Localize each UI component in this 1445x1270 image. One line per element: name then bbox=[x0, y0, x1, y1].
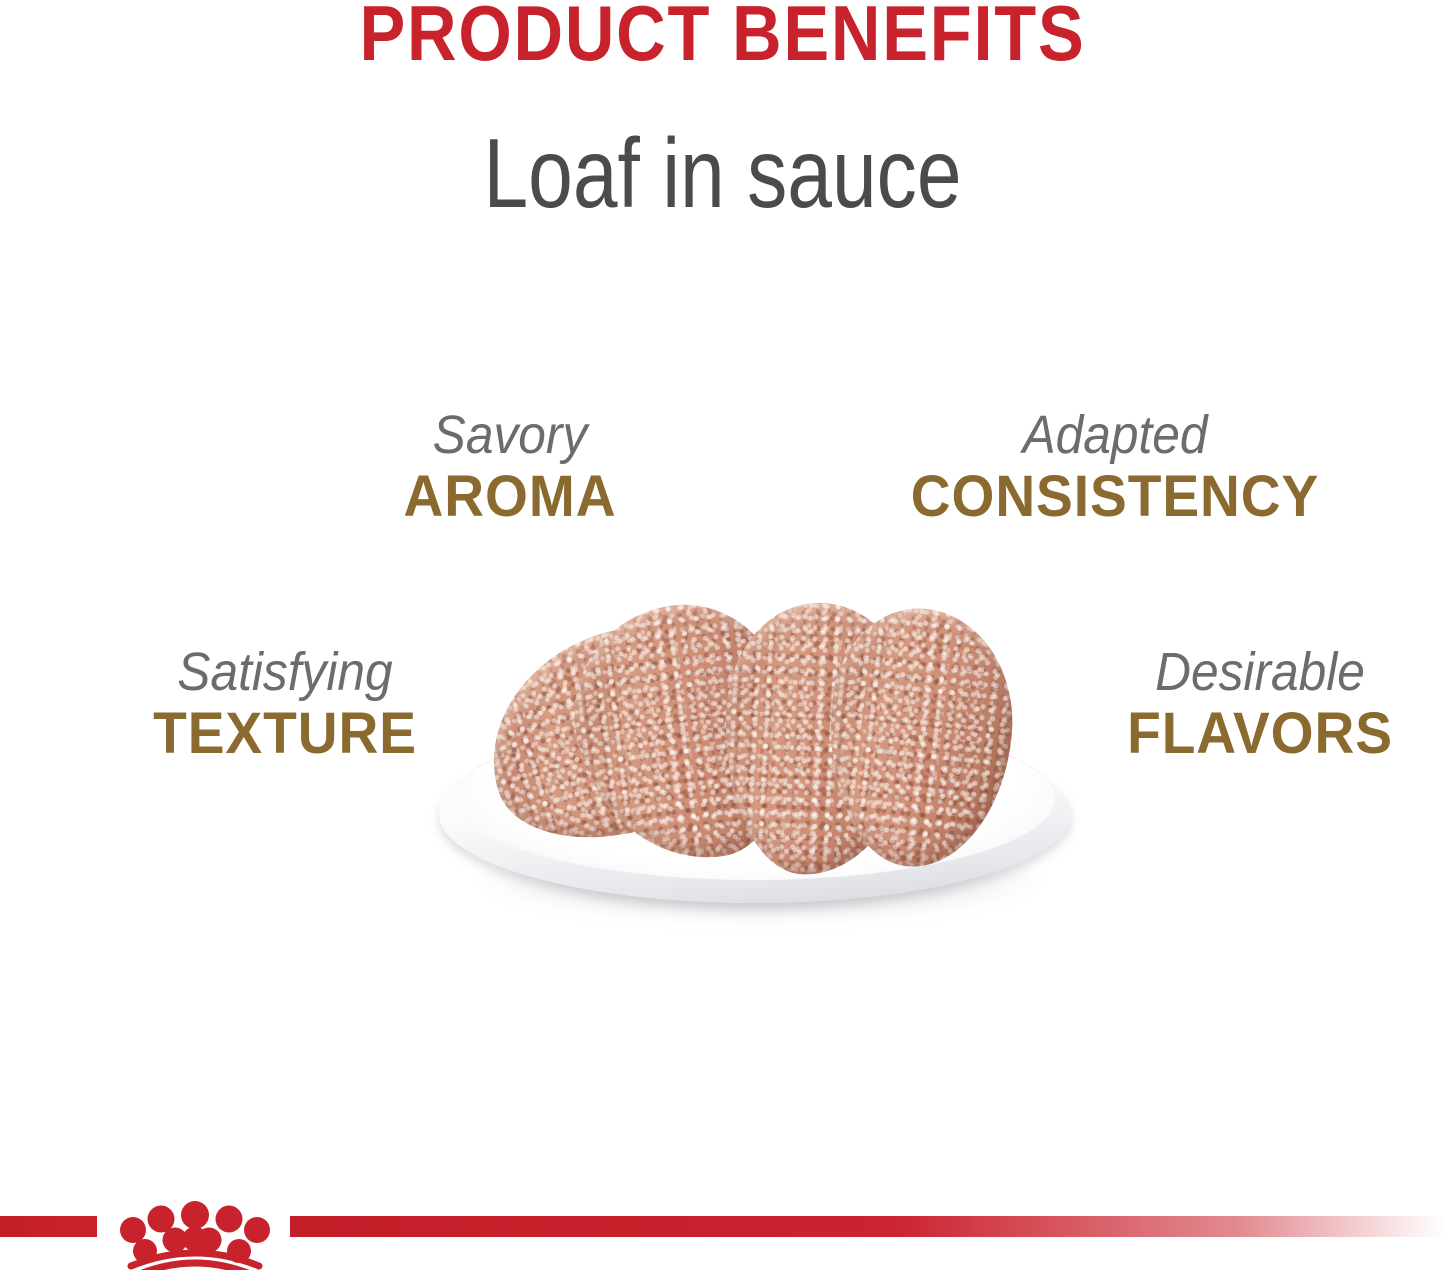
benefit-texture-adjective: Satisfying bbox=[101, 645, 469, 699]
benefit-consistency-noun: CONSISTENCY bbox=[892, 468, 1339, 526]
product-image bbox=[425, 595, 1085, 955]
benefit-flavors-noun: FLAVORS bbox=[1070, 705, 1445, 763]
benefit-texture-noun: TEXTURE bbox=[95, 705, 475, 763]
benefit-flavors: Desirable FLAVORS bbox=[1060, 645, 1445, 763]
brand-bar-left bbox=[0, 1216, 97, 1237]
page-subtitle: Loaf in sauce bbox=[130, 124, 1315, 222]
benefit-consistency: Adapted CONSISTENCY bbox=[880, 408, 1350, 526]
benefit-aroma-adjective: Savory bbox=[326, 408, 694, 462]
benefit-consistency-adjective: Adapted bbox=[899, 408, 1331, 462]
benefit-aroma: Savory AROMA bbox=[310, 408, 710, 526]
brand-bar-right bbox=[290, 1216, 1445, 1237]
royal-canin-crown-icon bbox=[105, 1190, 285, 1270]
benefit-aroma-noun: AROMA bbox=[320, 468, 700, 526]
page-title: PRODUCT BENEFITS bbox=[87, 0, 1359, 72]
crown-arc-lower bbox=[135, 1263, 255, 1270]
product-benefits-page: PRODUCT BENEFITS Loaf in sauce Savory AR… bbox=[0, 0, 1445, 1270]
benefit-flavors-adjective: Desirable bbox=[1076, 645, 1444, 699]
brand-footer bbox=[0, 1196, 1445, 1270]
